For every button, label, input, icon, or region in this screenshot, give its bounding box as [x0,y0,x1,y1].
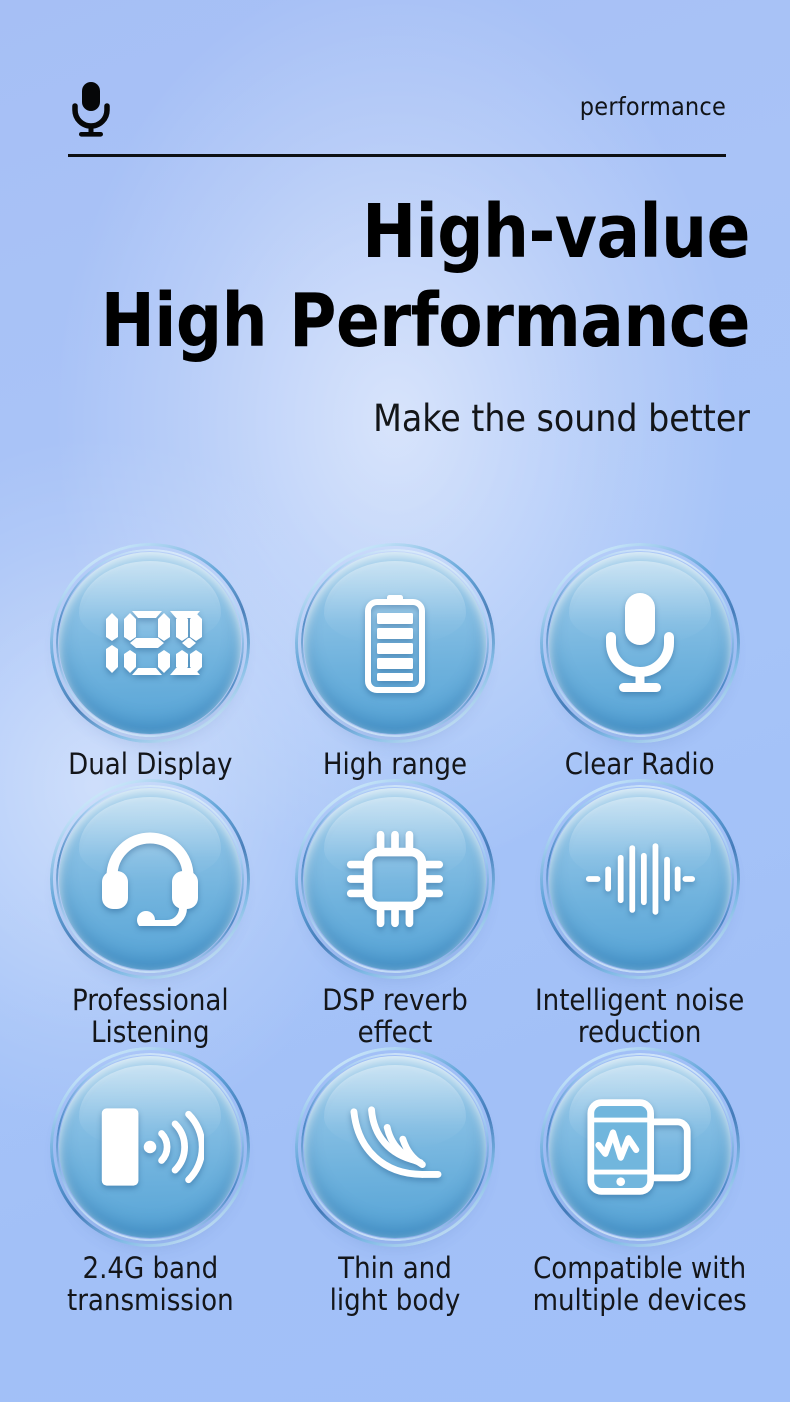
audio-waveform-icon [549,788,731,970]
orb-highlight [569,1065,711,1149]
orb-highlight [569,797,711,881]
feather-icon [304,1056,486,1238]
feature-item[interactable]: High range [273,552,518,780]
wireless-signal-icon [59,1056,241,1238]
feature-item[interactable]: Intelligent noise reduction [517,788,762,1048]
page-header: performance [68,78,726,160]
feature-orb [304,1056,486,1238]
feature-item[interactable]: 2.4G band transmission [28,1056,273,1316]
feature-orb [59,552,241,734]
orb-highlight [79,1065,221,1149]
feature-label: High range [323,748,467,780]
feature-label: Dual Display [68,748,232,780]
battery-full-icon [304,552,486,734]
feature-label: Clear Radio [565,748,715,780]
multi-device-icon [549,1056,731,1238]
orb-highlight [324,1065,466,1149]
promo-page: performance High-value High Performance … [0,0,790,1402]
header-label: performance [580,92,726,121]
feature-item[interactable]: DSP reverb effect [273,788,518,1048]
feature-label: Thin and light body [330,1252,461,1316]
feature-item[interactable]: Professional Listening [28,788,273,1048]
feature-orb [59,788,241,970]
feature-item[interactable]: Compatible with multiple devices [517,1056,762,1316]
feature-label: DSP reverb effect [322,984,468,1048]
feature-orb [304,788,486,970]
feature-label: Professional Listening [72,984,229,1048]
feature-label: 2.4G band transmission [67,1252,234,1316]
cpu-chip-icon [304,788,486,970]
microphone-icon [549,552,731,734]
hero-subtitle: Make the sound better [40,397,750,441]
orb-highlight [324,797,466,881]
feature-orb [304,552,486,734]
header-divider [68,154,726,157]
feature-label: Intelligent noise reduction [535,984,744,1048]
headset-icon [59,788,241,970]
feature-orb [549,1056,731,1238]
hero-title-line-2: High Performance [61,277,750,366]
feature-orb [549,552,731,734]
feature-item[interactable]: Clear Radio [517,552,762,780]
hero-section: High-value High Performance Make the sou… [40,188,750,441]
seven-segment-100-icon [59,552,241,734]
feature-grid: Dual Display High range [28,552,762,1316]
orb-highlight [79,797,221,881]
microphone-icon [68,80,114,138]
feature-item[interactable]: Thin and light body [273,1056,518,1316]
orb-highlight [79,561,221,645]
feature-orb [549,788,731,970]
hero-title-line-1: High-value [61,188,750,277]
feature-item[interactable]: Dual Display [28,552,273,780]
orb-highlight [324,561,466,645]
orb-highlight [569,561,711,645]
feature-label: Compatible with multiple devices [533,1252,747,1316]
feature-orb [59,1056,241,1238]
